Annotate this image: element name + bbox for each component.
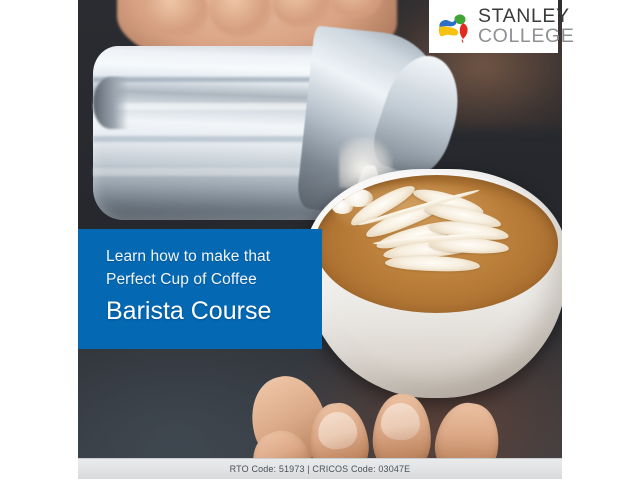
coffee-surface (315, 175, 558, 312)
latte-art-pour-dot (332, 200, 354, 214)
headline-line-1: Learn how to make that (106, 245, 322, 268)
logo-line-college: COLLEGE (478, 27, 574, 47)
logo-card: STANLEY COLLEGE (429, 0, 558, 53)
course-title: Barista Course (106, 291, 322, 331)
logo-line-stanley: STANLEY (478, 7, 574, 27)
pitcher-reflection-band (93, 77, 345, 82)
logo-wordmark: STANLEY COLLEGE (478, 7, 574, 47)
compliance-footer-bar: RTO Code: 51973 | CRICOS Code: 03047E (78, 458, 562, 479)
pitcher-handle (93, 77, 128, 129)
headline-line-2: Perfect Cup of Coffee (106, 268, 322, 291)
headline-overlay: Learn how to make that Perfect Cup of Co… (78, 229, 322, 349)
fingernail (380, 402, 420, 440)
banner-canvas: Learn how to make that Perfect Cup of Co… (0, 0, 640, 480)
latte-art-leaf (385, 255, 480, 273)
stanley-college-australia-mark (436, 10, 474, 44)
compliance-codes-text: RTO Code: 51973 | CRICOS Code: 03047E (230, 464, 411, 474)
